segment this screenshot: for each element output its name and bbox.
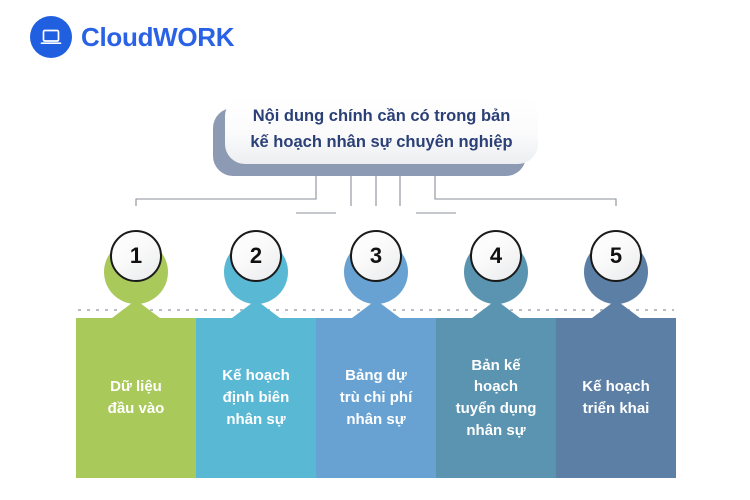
step-number-2: 2 [250, 245, 262, 267]
brand-logo: CloudWORK [30, 16, 234, 58]
step-node-1[interactable]: 1 [96, 222, 176, 294]
column-tip-2 [232, 300, 280, 318]
column-body-1: Dữ liệuđầu vào [76, 318, 196, 478]
column-tip-4 [472, 300, 520, 318]
step-circle-3[interactable]: 3 [350, 230, 402, 282]
column-label-4: Bản kếhoạchtuyển dụngnhân sự [450, 355, 543, 442]
column-body-4: Bản kếhoạchtuyển dụngnhân sự [436, 318, 556, 478]
step-columns: Dữ liệuđầu vào Kế hoạchđịnh biênnhân sự … [76, 318, 676, 478]
brand-name: CloudWORK [81, 24, 234, 50]
main-title-card: Nội dung chính cần có trong bản kế hoạch… [213, 96, 538, 176]
laptop-icon [30, 16, 72, 58]
step-node-2[interactable]: 2 [216, 222, 296, 294]
step-circle-1[interactable]: 1 [110, 230, 162, 282]
title-line-2: kế hoạch nhân sự chuyên nghiệp [250, 130, 512, 156]
step-number-5: 5 [610, 245, 622, 267]
column-label-5: Kế hoạchtriển khai [576, 376, 656, 420]
infographic-canvas: CloudWORK Nội dung chính cần có trong bả… [0, 0, 750, 500]
title-line-1: Nội dung chính cần có trong bản [253, 104, 511, 130]
column-body-3: Bảng dựtrù chi phínhân sự [316, 318, 436, 478]
step-number-4: 4 [490, 245, 502, 267]
column-tip-3 [352, 300, 400, 318]
step-column-5[interactable]: Kế hoạchtriển khai [556, 318, 676, 478]
step-node-5[interactable]: 5 [576, 222, 656, 294]
step-column-2[interactable]: Kế hoạchđịnh biênnhân sự [196, 318, 316, 478]
step-column-4[interactable]: Bản kếhoạchtuyển dụngnhân sự [436, 318, 556, 478]
step-number-1: 1 [130, 245, 142, 267]
step-number-3: 3 [370, 245, 382, 267]
column-body-5: Kế hoạchtriển khai [556, 318, 676, 478]
step-circle-4[interactable]: 4 [470, 230, 522, 282]
title-card-surface: Nội dung chính cần có trong bản kế hoạch… [225, 96, 538, 164]
column-label-2: Kế hoạchđịnh biênnhân sự [216, 365, 296, 430]
step-node-4[interactable]: 4 [456, 222, 536, 294]
column-tip-1 [112, 300, 160, 318]
column-label-1: Dữ liệuđầu vào [102, 376, 171, 420]
step-column-3[interactable]: Bảng dựtrù chi phínhân sự [316, 318, 436, 478]
step-circle-2[interactable]: 2 [230, 230, 282, 282]
step-circle-5[interactable]: 5 [590, 230, 642, 282]
column-body-2: Kế hoạchđịnh biênnhân sự [196, 318, 316, 478]
step-column-1[interactable]: Dữ liệuđầu vào [76, 318, 196, 478]
step-node-3[interactable]: 3 [336, 222, 416, 294]
column-tip-5 [592, 300, 640, 318]
column-label-3: Bảng dựtrù chi phínhân sự [334, 365, 419, 430]
